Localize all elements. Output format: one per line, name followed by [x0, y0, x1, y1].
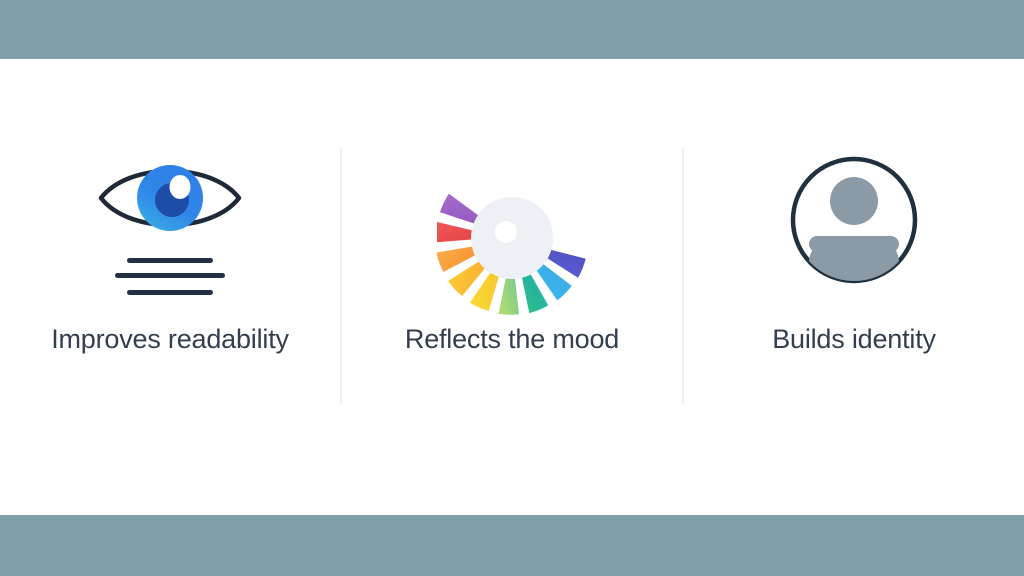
slide-root: Improves readability — [0, 0, 1024, 576]
avatar-shoulders — [809, 236, 899, 252]
feature-label-reflects-the-mood: Reflects the mood — [405, 325, 619, 355]
feature-card-improves-readability[interactable]: Improves readability — [0, 147, 340, 405]
palette-thumb-hole — [495, 221, 517, 243]
eye-highlight — [170, 175, 191, 199]
color-swatch-fan — [437, 190, 587, 315]
top-color-band — [0, 0, 1024, 59]
bottom-color-band — [0, 515, 1024, 576]
feature-label-improves-readability: Improves readability — [51, 325, 289, 355]
eye-line-top — [127, 258, 213, 263]
eye-line-middle — [115, 273, 225, 278]
feature-label-builds-identity: Builds identity — [772, 325, 936, 355]
feature-columns: Improves readability — [0, 147, 1024, 405]
feature-card-reflects-the-mood[interactable]: Reflects the mood — [342, 147, 682, 405]
feature-card-builds-identity[interactable]: Builds identity — [684, 147, 1024, 405]
user-avatar-icon — [779, 147, 929, 317]
avatar-head — [830, 177, 878, 225]
eye-icon — [95, 147, 245, 317]
eye-line-bottom — [127, 290, 213, 295]
color-palette-fan-icon — [437, 147, 587, 317]
